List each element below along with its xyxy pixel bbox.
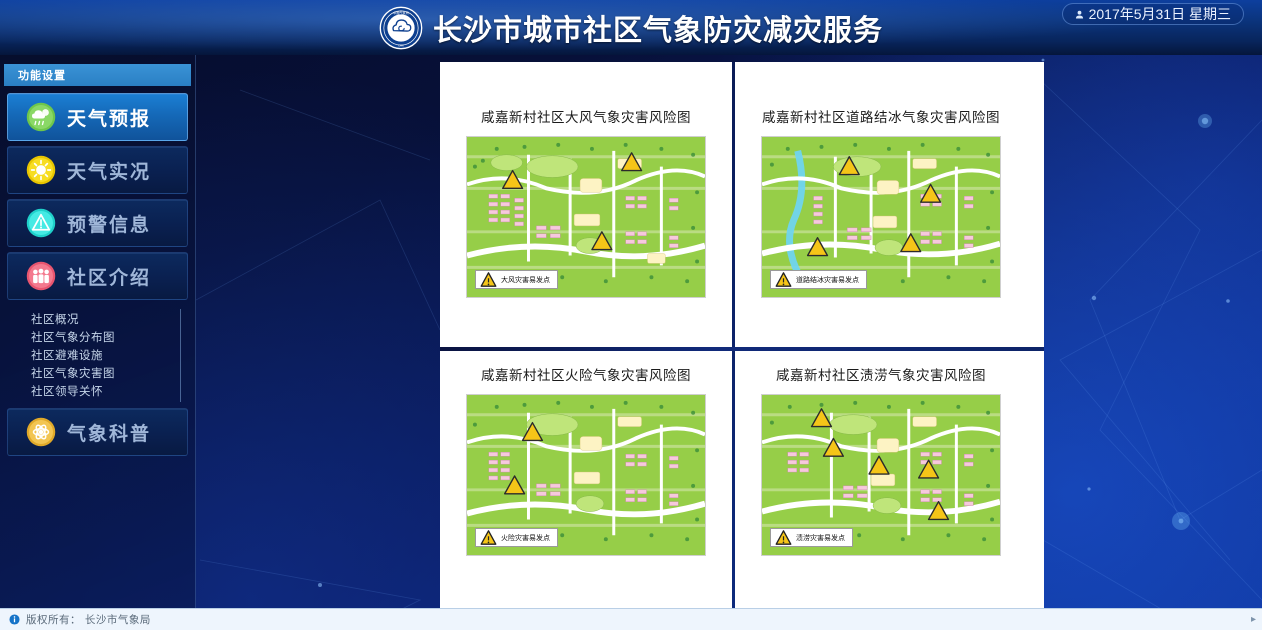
map-legend-label: 道路结冰灾害易发点 xyxy=(796,275,859,285)
map-title: 咸嘉新村社区渍涝气象灾害风险图 xyxy=(776,364,986,384)
scroll-right-arrow[interactable]: ▸ xyxy=(1251,614,1256,625)
map-legend: 火险灾害易发点 xyxy=(475,528,558,547)
community-map-image[interactable]: 大风灾害易发点 xyxy=(466,136,706,298)
warning-triangle-icon xyxy=(775,529,792,546)
sidebar-item-weather-forecast[interactable]: 天气预报 xyxy=(7,93,188,141)
community-map-image[interactable]: 火险灾害易发点 xyxy=(466,394,706,556)
map-title: 咸嘉新村社区大风气象灾害风险图 xyxy=(481,106,691,126)
submenu-item-hazard-map[interactable]: 社区气象灾害图 xyxy=(14,364,181,382)
submenu-item-weather-map[interactable]: 社区气象分布图 xyxy=(14,328,181,346)
sidebar-item-label: 气象科普 xyxy=(67,419,151,446)
map-legend: 道路结冰灾害易发点 xyxy=(770,270,867,289)
sidebar-item-weather-live[interactable]: 天气实况 xyxy=(7,146,188,194)
user-icon xyxy=(1075,10,1084,19)
submenu-item-leadership[interactable]: 社区领导关怀 xyxy=(14,382,181,400)
map-legend-label: 大风灾害易发点 xyxy=(501,275,550,285)
info-icon xyxy=(9,614,20,625)
sidebar-item-community-intro[interactable]: 社区介绍 xyxy=(7,252,188,300)
community-map-image[interactable]: 渍涝灾害易发点 xyxy=(761,394,1001,556)
sidebar-item-label: 社区介绍 xyxy=(67,263,151,290)
sidebar-item-science-popularization[interactable]: 气象科普 xyxy=(7,408,188,456)
sidebar-item-label: 预警信息 xyxy=(67,210,151,237)
svg-text:CMA: CMA xyxy=(398,44,404,47)
atom-icon xyxy=(26,417,56,447)
sun-icon xyxy=(26,155,56,185)
app-header: 中国气象局 CMA 长沙市城市社区气象防灾减灾服务 2017年5月31日 星期三 xyxy=(0,0,1262,55)
warning-triangle-icon xyxy=(775,271,792,288)
hazard-map-card-waterlogging[interactable]: 咸嘉新村社区渍涝气象灾害风险图 xyxy=(735,351,1027,630)
hazard-map-grid: 咸嘉新村社区大风气象灾害风险图 xyxy=(440,62,1044,608)
sidebar-nav: 天气预报 xyxy=(0,90,195,456)
application-window: 中国气象局 CMA 长沙市城市社区气象防灾减灾服务 2017年5月31日 星期三… xyxy=(0,0,1262,630)
warning-triangle-icon xyxy=(480,271,497,288)
copyright-text: 版权所有： 长沙市气象局 xyxy=(26,612,151,627)
people-group-icon xyxy=(26,261,56,291)
sidebar-item-label: 天气预报 xyxy=(67,104,151,131)
sidebar-panel-title: 功能设置 xyxy=(4,64,191,86)
cma-emblem-icon: 中国气象局 CMA xyxy=(379,6,423,50)
sidebar-item-alerts[interactable]: 预警信息 xyxy=(7,199,188,247)
community-map-image[interactable]: 道路结冰灾害易发点 xyxy=(761,136,1001,298)
map-title: 咸嘉新村社区火险气象灾害风险图 xyxy=(481,364,691,384)
hazard-map-card-wind[interactable]: 咸嘉新村社区大风气象灾害风险图 xyxy=(440,62,732,347)
svg-text:中国气象局: 中国气象局 xyxy=(393,9,408,14)
map-legend-label: 渍涝灾害易发点 xyxy=(796,533,845,543)
page-title: 长沙市城市社区气象防灾减灾服务 xyxy=(433,7,883,49)
warning-triangle-icon xyxy=(480,529,497,546)
submenu-item-shelters[interactable]: 社区避难设施 xyxy=(14,346,181,364)
hazard-map-card-road-ice[interactable]: 咸嘉新村社区道路结冰气象灾害风险图 xyxy=(735,62,1027,347)
date-display: 2017年5月31日 星期三 xyxy=(1062,3,1244,25)
warning-triangle-icon xyxy=(26,208,56,238)
sidebar: 功能设置 天气预报 xyxy=(0,55,196,608)
cloud-rain-icon xyxy=(26,102,56,132)
map-title: 咸嘉新村社区道路结冰气象灾害风险图 xyxy=(762,106,1000,126)
submenu-item-overview[interactable]: 社区概况 xyxy=(14,310,181,328)
footer-bar: 版权所有： 长沙市气象局 ▸ xyxy=(0,608,1262,630)
map-legend-label: 火险灾害易发点 xyxy=(501,533,550,543)
sidebar-item-label: 天气实况 xyxy=(67,157,151,184)
sidebar-submenu: 社区概况 社区气象分布图 社区避难设施 社区气象灾害图 社区领导关怀 xyxy=(14,305,181,408)
hazard-map-card-fire[interactable]: 咸嘉新村社区火险气象灾害风险图 xyxy=(440,351,732,630)
date-text: 2017年5月31日 星期三 xyxy=(1089,4,1231,24)
map-legend: 渍涝灾害易发点 xyxy=(770,528,853,547)
map-legend: 大风灾害易发点 xyxy=(475,270,558,289)
